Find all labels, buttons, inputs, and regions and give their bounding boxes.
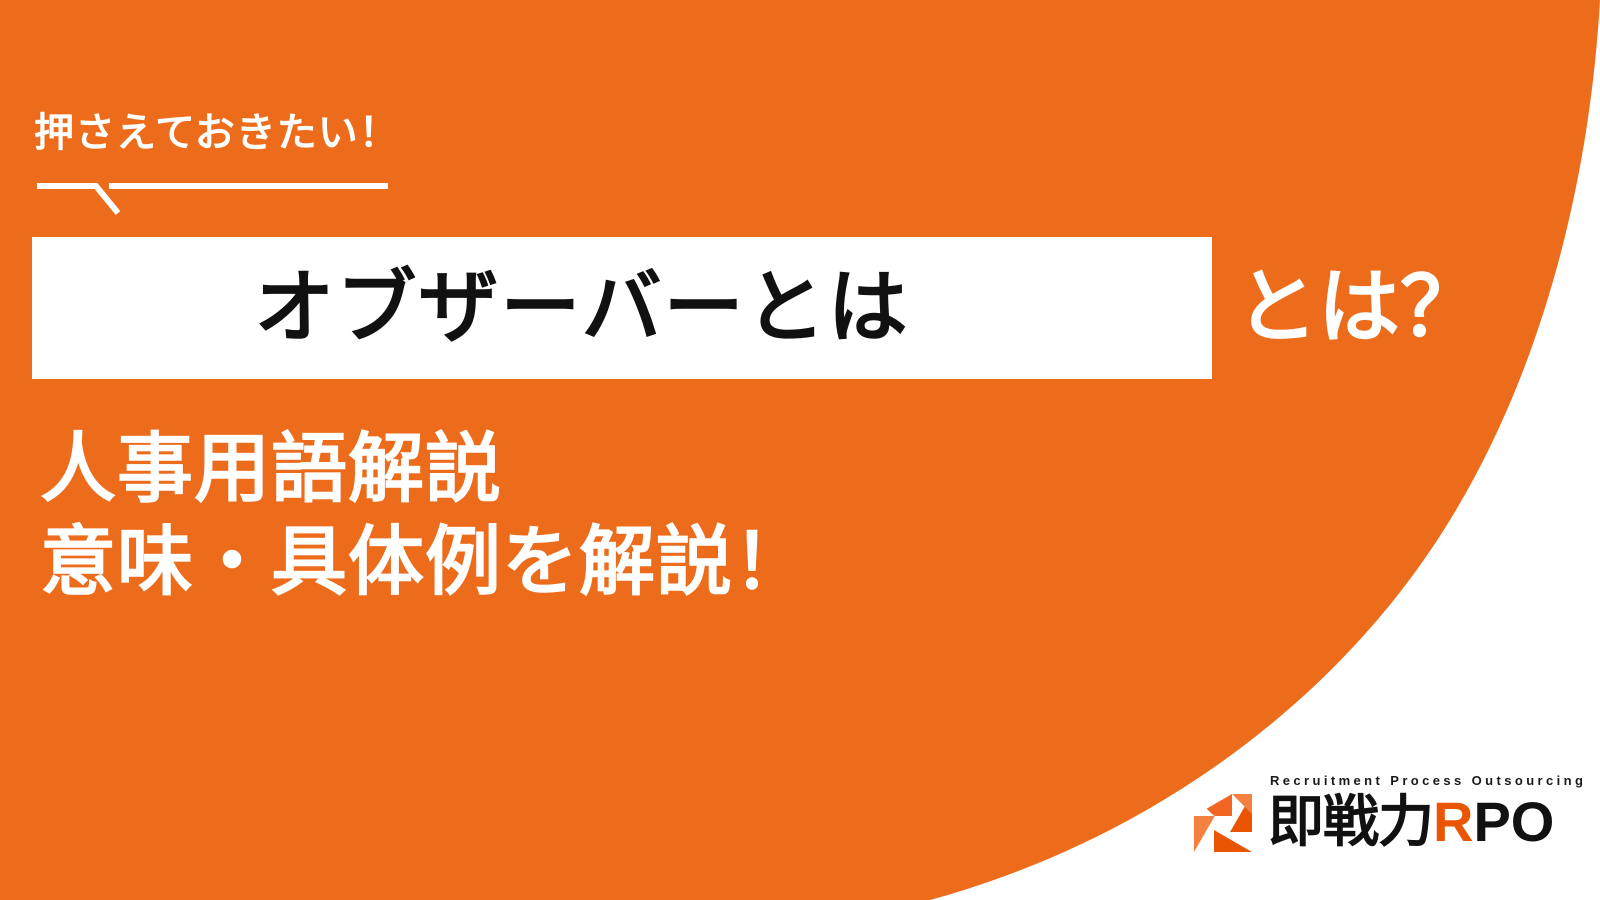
brand-logo: Recruitment Process Outsourcing 即戦力RPO (1186, 770, 1546, 870)
logo-tagline: Recruitment Process Outsourcing (1270, 774, 1586, 787)
headline-row: オブザーバーとは とは？ (0, 237, 1600, 379)
kicker-text: 押さえておきたい！ (34, 113, 400, 153)
subtitle-block: 人事用語解説 意味・具体例を解説！ (40, 424, 810, 609)
logo-wordmark-rest: PO (1473, 790, 1554, 853)
subtitle-line-1: 人事用語解説 (40, 424, 810, 517)
banner-canvas: 押さえておきたい！ オブザーバーとは とは？ 人事用語解説 意味・具体例を解説！… (0, 0, 1600, 900)
headline-suffix: とは？ (1236, 267, 1482, 349)
subtitle-line-2: 意味・具体例を解説！ (40, 517, 810, 610)
headline-term-box: オブザーバーとは (32, 237, 1212, 379)
headline-term: オブザーバーとは (254, 268, 909, 348)
logo-wordmark-jp: 即戦力 (1268, 790, 1433, 853)
logo-wordmark: 即戦力RPO (1268, 794, 1554, 850)
pinwheel-arrow-icon (1186, 786, 1260, 860)
logo-wordmark-accent: R (1433, 790, 1473, 853)
